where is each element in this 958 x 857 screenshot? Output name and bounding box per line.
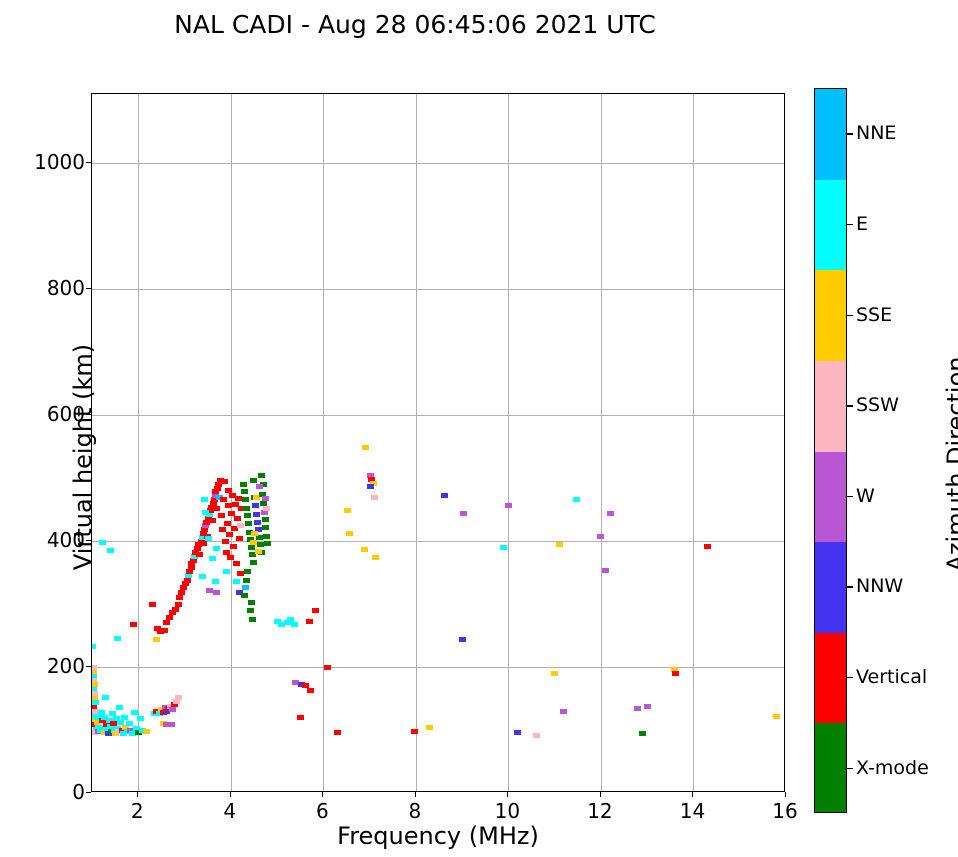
echo-point (225, 503, 232, 508)
echo-point (218, 513, 225, 518)
echo-point (344, 508, 351, 513)
gridline-vertical (231, 94, 232, 791)
y-tick (86, 162, 91, 163)
echo-point (334, 730, 341, 735)
gridline-horizontal (92, 415, 784, 416)
y-axis-label: Virtual height (km) (69, 257, 97, 657)
colorbar-tick (847, 586, 853, 587)
echo-point (206, 588, 213, 593)
echo-point (262, 496, 269, 501)
colorbar-label-ssw: SSW (856, 394, 899, 416)
y-tick (86, 666, 91, 667)
colorbar-label-sse: SSE (856, 304, 892, 326)
echo-point (236, 536, 243, 541)
echo-point (201, 497, 208, 502)
echo-point (223, 569, 230, 574)
colorbar-label-e: E (856, 213, 868, 235)
colorbar-label-w: W (856, 485, 875, 507)
echo-point (367, 484, 374, 489)
echo-point (200, 541, 207, 546)
colorbar-tick (847, 677, 853, 678)
y-tick (86, 792, 91, 793)
echo-point (607, 511, 614, 516)
echo-point (178, 590, 185, 595)
echo-point (153, 637, 160, 642)
echo-point (257, 542, 264, 547)
echo-point (233, 579, 240, 584)
x-tick (785, 792, 786, 797)
echo-point (426, 725, 433, 730)
gridline-vertical (601, 94, 602, 791)
x-axis-label: Frequency (MHz) (91, 822, 785, 850)
y-tick-label: 1000 (34, 150, 85, 174)
x-tick (415, 792, 416, 797)
colorbar-label-x-mode: X-mode (856, 757, 929, 779)
echo-point (240, 482, 247, 487)
echo-point (324, 665, 331, 670)
x-tick (137, 792, 138, 797)
x-tick (230, 792, 231, 797)
echo-point (249, 617, 256, 622)
colorbar-segment-nne[interactable] (815, 89, 846, 180)
gridline-horizontal (92, 163, 784, 164)
x-tick-label: 16 (772, 799, 797, 823)
x-tick-label: 10 (495, 799, 520, 823)
echo-point (237, 523, 244, 528)
echo-point (306, 619, 313, 624)
colorbar-segment-ssw[interactable] (815, 361, 846, 452)
echo-point (230, 544, 237, 549)
x-tick-label: 6 (316, 799, 329, 823)
echo-point (175, 695, 182, 700)
echo-point (184, 578, 191, 583)
y-tick-label: 0 (72, 780, 85, 804)
echo-point (514, 730, 521, 735)
x-tick-label: 8 (408, 799, 421, 823)
echo-point (234, 516, 241, 521)
echo-point (307, 688, 314, 693)
echo-point (226, 532, 233, 537)
echo-point (172, 607, 179, 612)
echo-point (130, 622, 137, 627)
echo-point (258, 473, 265, 478)
echo-point (114, 636, 121, 641)
echo-point (441, 493, 448, 498)
echo-point (533, 733, 540, 738)
echo-point (175, 602, 182, 607)
colorbar-tick (847, 133, 853, 134)
x-tick (322, 792, 323, 797)
ionogram-figure: NAL CADI - Aug 28 06:45:06 2021 UTC 2468… (0, 0, 958, 857)
echo-point (163, 620, 170, 625)
echo-point (176, 595, 183, 600)
x-tick (600, 792, 601, 797)
gridline-vertical (138, 94, 139, 791)
echo-point (297, 715, 304, 720)
colorbar-tick (847, 768, 853, 769)
gridline-vertical (693, 94, 694, 791)
colorbar-tick (847, 315, 853, 316)
echo-point (219, 527, 226, 532)
echo-point (244, 513, 251, 518)
echo-point (166, 615, 173, 620)
echo-point (251, 531, 258, 536)
x-tick (692, 792, 693, 797)
echo-point (213, 590, 220, 595)
echo-point (149, 602, 156, 607)
echo-point (773, 714, 780, 719)
echo-point (241, 593, 248, 598)
echo-point (202, 510, 209, 515)
echo-point (255, 549, 262, 554)
echo-point (459, 637, 466, 642)
echo-point (411, 729, 418, 734)
x-tick (507, 792, 508, 797)
echo-point (248, 545, 255, 550)
gridline-vertical (323, 94, 324, 791)
colorbar-label-nne: NNE (856, 122, 896, 144)
echo-point (121, 715, 128, 720)
colorbar-label-vertical: Vertical (856, 666, 927, 688)
echo-point (252, 503, 259, 508)
echo-point (250, 478, 257, 483)
echo-point (224, 521, 231, 526)
echo-point (116, 705, 123, 710)
colorbar-segment-vertical[interactable] (815, 633, 846, 724)
plot-area[interactable] (91, 93, 785, 792)
echo-point (227, 555, 234, 560)
echo-point (126, 721, 133, 726)
echo-point (644, 704, 651, 709)
echo-point (209, 518, 216, 523)
echo-point (248, 600, 255, 605)
echo-point (161, 628, 168, 633)
echo-point (250, 560, 257, 565)
echo-point (602, 568, 609, 573)
gridline-horizontal (92, 289, 784, 290)
echo-point (573, 497, 580, 502)
x-tick-label: 2 (131, 799, 144, 823)
echo-point (137, 716, 144, 721)
gridline-horizontal (92, 667, 784, 668)
echo-point (247, 608, 254, 613)
echo-point (253, 512, 260, 517)
colorbar-segment-sse[interactable] (815, 270, 846, 361)
gridline-vertical (416, 94, 417, 791)
echo-point (263, 534, 270, 539)
colorbar-tick (847, 224, 853, 225)
colorbar-label-nnw: NNW (856, 575, 903, 597)
echo-point (362, 445, 369, 450)
echo-point (262, 525, 269, 530)
echo-point (256, 484, 263, 489)
echo-point (169, 707, 176, 712)
echo-point (209, 556, 216, 561)
x-tick-label: 4 (223, 799, 236, 823)
y-tick-label: 200 (47, 654, 85, 678)
echo-point (597, 534, 604, 539)
colorbar-segment-x-mode[interactable] (815, 723, 846, 813)
echo-point (213, 546, 220, 551)
echo-point (196, 552, 203, 557)
echo-point (237, 571, 244, 576)
echo-point (250, 540, 257, 545)
echo-point (254, 520, 261, 525)
echo-point (107, 548, 114, 553)
page-title: NAL CADI - Aug 28 06:45:06 2021 UTC (0, 10, 830, 39)
echo-point (242, 585, 249, 590)
echo-point (245, 521, 252, 526)
echo-point (199, 574, 206, 579)
echo-point (312, 608, 319, 613)
echo-point (556, 542, 563, 547)
colorbar-segment-w[interactable] (815, 452, 846, 543)
echo-point (634, 706, 641, 711)
echo-point (263, 506, 270, 511)
echo-point (233, 561, 240, 566)
echo-point (639, 731, 646, 736)
echo-point (205, 536, 212, 541)
azimuth-colorbar[interactable] (814, 88, 847, 813)
echo-point (131, 710, 138, 715)
echo-point (551, 671, 558, 676)
echo-point (361, 547, 368, 552)
echo-point (222, 539, 229, 544)
echo-point (672, 671, 679, 676)
echo-point (241, 489, 248, 494)
x-tick-label: 14 (680, 799, 705, 823)
echo-point (235, 496, 242, 501)
colorbar-title: Azimuth Direction (942, 314, 958, 614)
echo-point (243, 506, 250, 511)
echo-point (704, 544, 711, 549)
echo-point (346, 531, 353, 536)
echo-point (102, 695, 109, 700)
echo-point (460, 511, 467, 516)
echo-point (143, 729, 150, 734)
echo-point (505, 503, 512, 508)
echo-point (220, 497, 227, 502)
echo-point (242, 497, 249, 502)
echo-point (560, 709, 567, 714)
echo-point (168, 722, 175, 727)
x-tick-label: 12 (587, 799, 612, 823)
echo-point (372, 555, 379, 560)
gridline-vertical (508, 94, 509, 791)
echo-point (264, 541, 271, 546)
echo-point (99, 540, 106, 545)
colorbar-segment-nnw[interactable] (815, 542, 846, 633)
echo-point (213, 506, 220, 511)
echo-point (291, 622, 298, 627)
echo-point (244, 569, 251, 574)
colorbar-segment-e[interactable] (815, 180, 846, 271)
echo-point (221, 479, 228, 484)
echo-point (262, 517, 269, 522)
colorbar-tick (847, 496, 853, 497)
echo-point (243, 578, 250, 583)
echo-point (212, 579, 219, 584)
echo-point (500, 545, 507, 550)
echo-point (371, 495, 378, 500)
colorbar-tick (847, 405, 853, 406)
